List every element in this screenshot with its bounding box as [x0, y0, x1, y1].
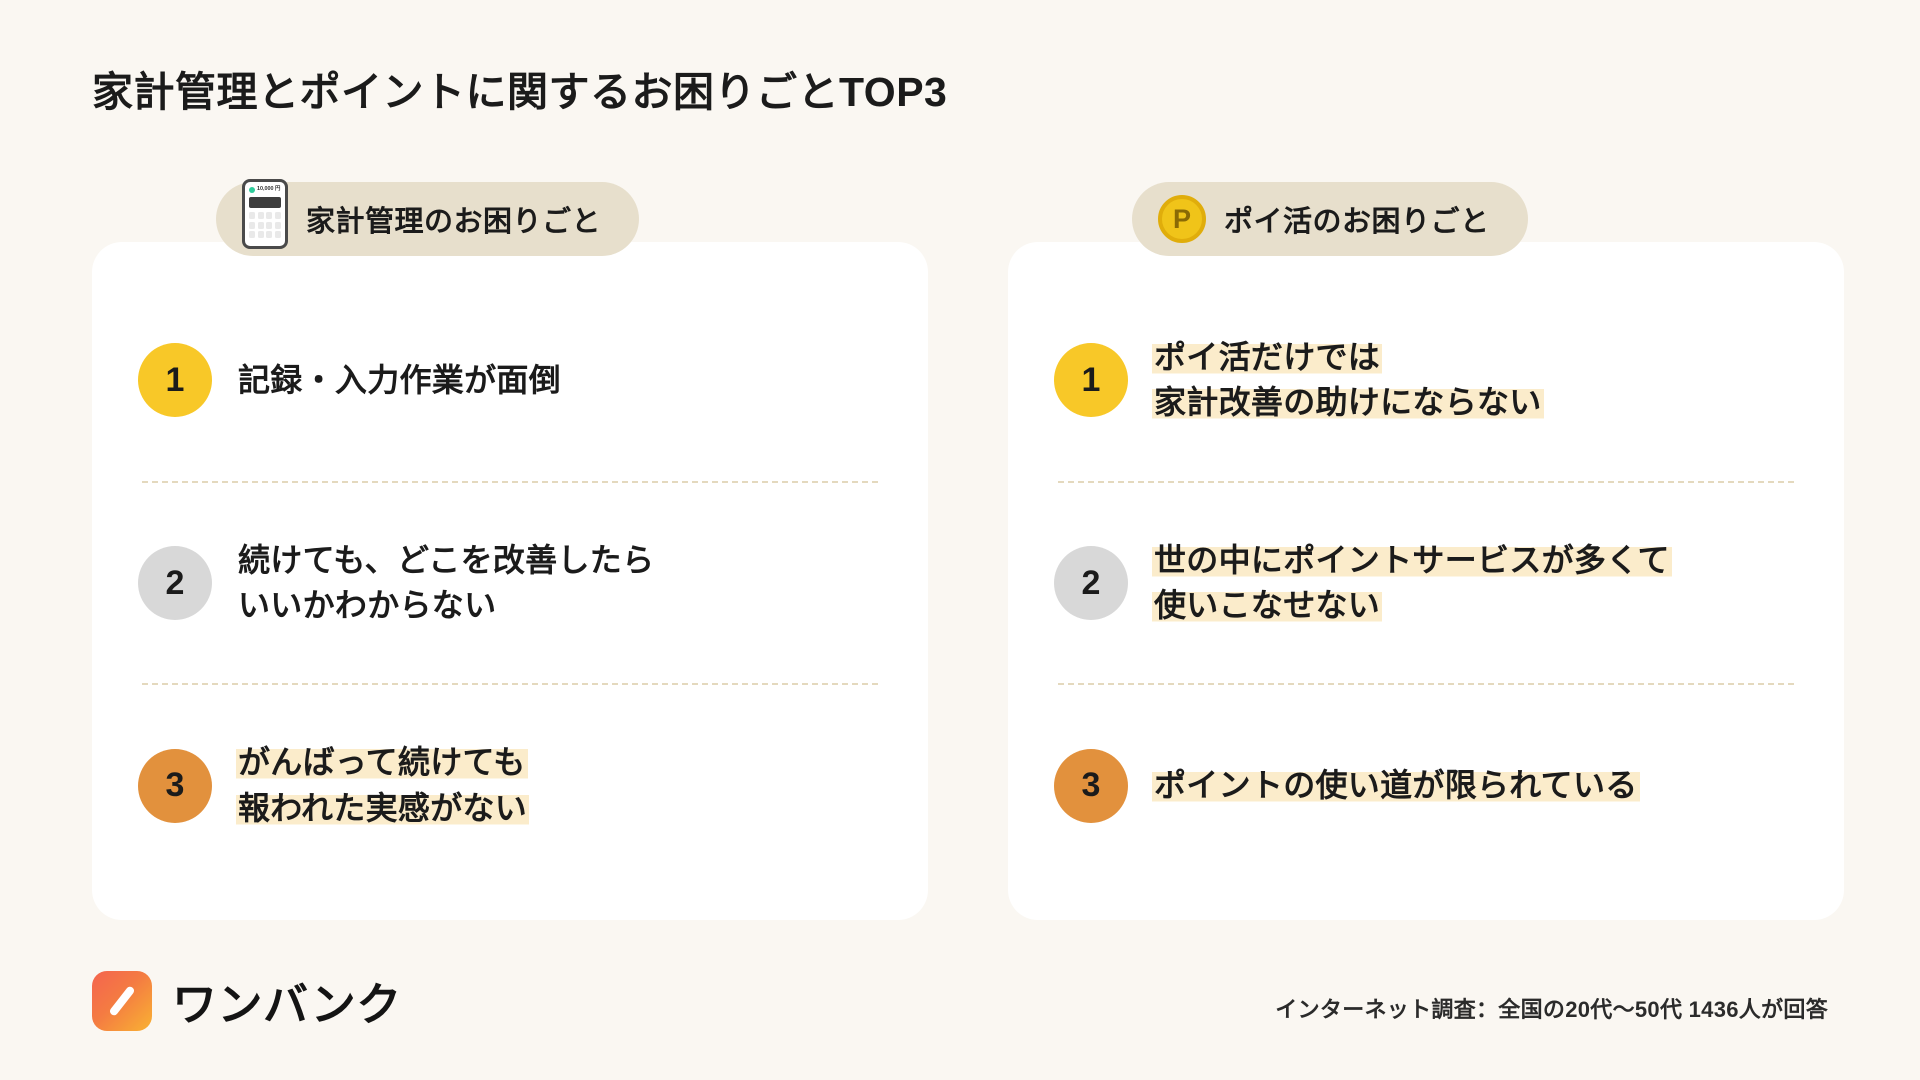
item-text: 記録・入力作業が面倒 — [236, 358, 563, 403]
rank-badge: 2 — [1054, 546, 1128, 620]
list-item: 3 ポイントの使い道が限られている — [1054, 685, 1798, 886]
item-line: 使いこなせない — [1152, 587, 1382, 623]
card-header-label: ポイ活のお困りごと — [1224, 198, 1490, 240]
page-title: 家計管理とポイントに関するお困りごとTOP3 — [92, 58, 947, 118]
item-line: 記録・入力作業が面倒 — [236, 362, 563, 398]
item-text: 続けても、どこを改善したら いいかわからない — [236, 538, 656, 629]
calculator-amount: 10,000 円 — [257, 187, 280, 192]
card-point-activity: P ポイ活のお困りごと 1 ポイ活だけでは 家計改善の助けにならない 2 世の中… — [1008, 242, 1844, 920]
status-dot-icon — [249, 187, 255, 193]
list-item: 1 ポイ活だけでは 家計改善の助けにならない — [1054, 280, 1798, 481]
rank-badge: 3 — [138, 749, 212, 823]
item-text: ポイントの使い道が限られている — [1152, 763, 1640, 808]
list-item: 1 記録・入力作業が面倒 — [138, 280, 882, 481]
calculator-keypad — [249, 212, 281, 238]
list-item: 3 がんばって続けても 報われた実感がない — [138, 685, 882, 886]
list-item: 2 世の中にポイントサービスが多くて 使いこなせない — [1054, 483, 1798, 684]
item-text: 世の中にポイントサービスが多くて 使いこなせない — [1152, 538, 1672, 629]
item-text: がんばって続けても 報われた実感がない — [236, 740, 529, 831]
survey-note: インターネット調査：全国の20代〜50代 1436人が回答 — [1275, 992, 1828, 1024]
item-line: いいかわからない — [236, 587, 498, 623]
item-line: ポイ活だけでは — [1152, 339, 1382, 375]
item-line: 家計改善の助けにならない — [1152, 384, 1544, 420]
item-list-household: 1 記録・入力作業が面倒 2 続けても、どこを改善したら いいかわからない 3 … — [92, 242, 928, 920]
rank-badge: 3 — [1054, 749, 1128, 823]
brand-name: ワンバンク — [172, 968, 402, 1033]
rank-badge: 2 — [138, 546, 212, 620]
calculator-icon: 10,000 円 — [242, 175, 288, 249]
card-household-management: 10,000 円 家計管理のお困りごと 1 記録・入力作業が面倒 2 続け — [92, 242, 928, 920]
point-coin-icon: P — [1158, 195, 1206, 243]
item-list-point: 1 ポイ活だけでは 家計改善の助けにならない 2 世の中にポイントサービスが多く… — [1008, 242, 1844, 920]
coin-letter: P — [1173, 206, 1191, 233]
onebank-slash-logo-icon — [92, 971, 152, 1031]
card-header-household: 10,000 円 家計管理のお困りごと — [216, 182, 639, 256]
item-line: 世の中にポイントサービスが多くて — [1152, 542, 1672, 578]
item-line: がんばって続けても — [236, 744, 528, 780]
brand-logo: ワンバンク — [92, 968, 402, 1033]
card-header-point: P ポイ活のお困りごと — [1132, 182, 1528, 256]
rank-badge: 1 — [138, 343, 212, 417]
item-line: 続けても、どこを改善したら — [236, 542, 656, 578]
card-header-label: 家計管理のお困りごと — [306, 198, 601, 240]
list-item: 2 続けても、どこを改善したら いいかわからない — [138, 483, 882, 684]
item-line: ポイントの使い道が限られている — [1152, 767, 1640, 803]
item-line: 報われた実感がない — [236, 790, 529, 826]
rank-badge: 1 — [1054, 343, 1128, 417]
item-text: ポイ活だけでは 家計改善の助けにならない — [1152, 335, 1544, 426]
calculator-display — [249, 197, 281, 208]
